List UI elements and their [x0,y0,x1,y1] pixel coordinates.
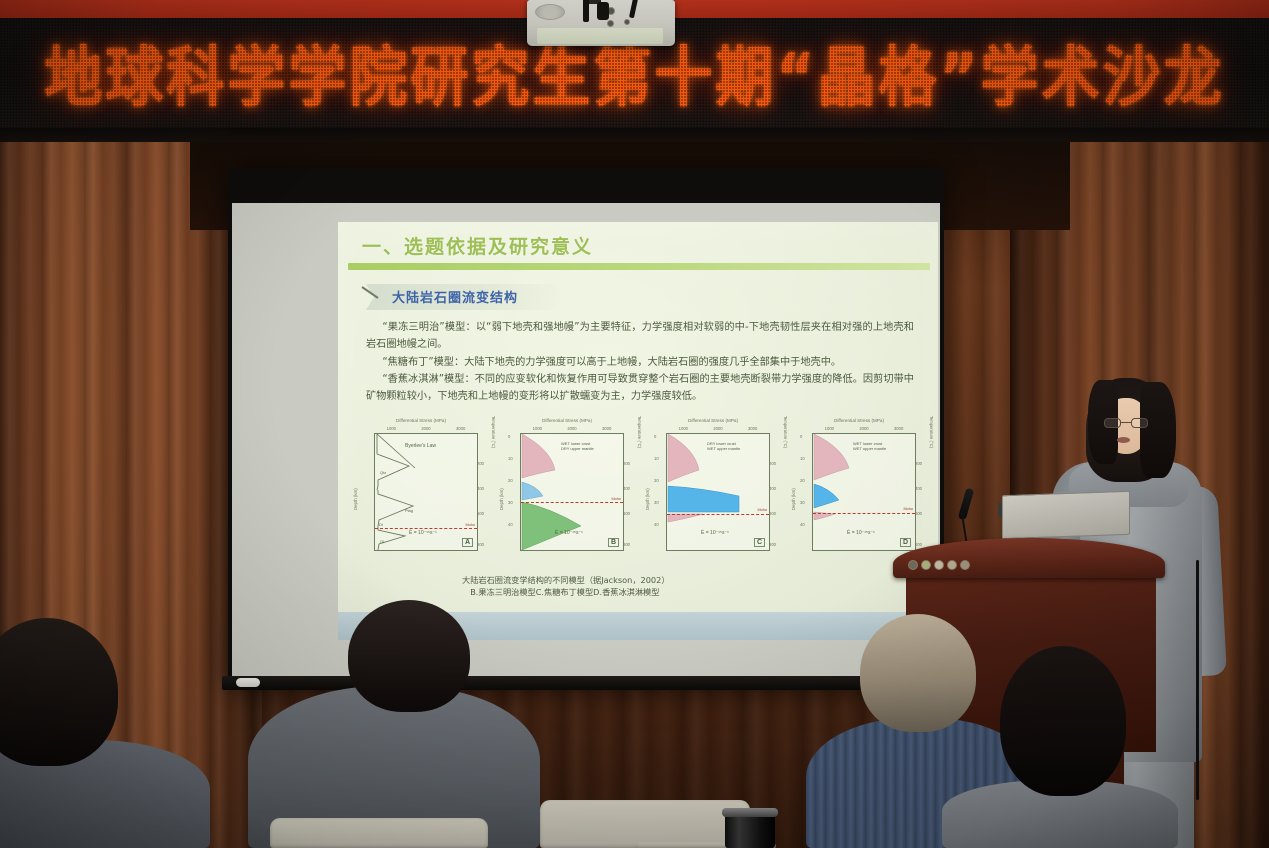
presentation-slide: 一、选题依据及研究意义 大陆岩石圈流变结构 “果冻三明治”模型：以“弱下地壳和强… [338,222,938,640]
chart-b-y2tick-3: 600 [623,511,630,516]
slide-paragraph-3: “香蕉冰淇淋”模型：不同的应变软化和恢复作用可导致贯穿整个岩石圈的主要地壳断裂带… [366,372,914,406]
glasses-lens-left [1104,418,1121,428]
chart-b-plot: Moho WET lower crust DRY upper mantle Ė … [520,433,624,551]
chart-d-y2tick-1: 200 [915,461,922,466]
chart-b-ylabel: Depth (km) [499,488,504,510]
chart-a-byerlee-label: Byerlee's Law [405,443,436,449]
presenter-glasses-icon [1104,418,1148,428]
chart-d-ytick-1: 0 [800,434,802,439]
projection-screen: 一、选题依据及研究意义 大陆岩石圈流变结构 “果冻三明治”模型：以“弱下地壳和强… [232,203,940,676]
chart-d-xticks: 1000 2000 3000 [812,426,916,433]
slide-title-rule [348,263,930,270]
podium-button-1[interactable] [908,560,918,570]
chart-d-y2tick-4: 800 [915,542,922,547]
chart-b-ytick-5: 40 [508,522,513,527]
chart-a-panel-label: A [462,538,473,547]
chart-panel-d: Differential Stress (MPa) 1000 2000 3000… [790,418,928,568]
chart-c-moho-line [667,514,769,515]
projector-icon [527,0,675,46]
chart-d-moho-label: Moho [904,507,914,511]
podium-control-buttons[interactable] [908,560,970,570]
chart-c-xlabel: Differential Stress (MPa) [688,418,738,423]
projector-cable-3 [629,0,638,18]
audience-member-center-head [348,600,470,712]
glasses-bridge [1121,422,1131,423]
chart-c-xtick-3: 3000 [748,426,757,433]
chart-panel-c: Differential Stress (MPa) 1000 2000 3000… [644,418,782,568]
chart-a-strain-rate: Ė = 10⁻¹⁵s⁻¹ [409,530,437,536]
chart-d-panel-label: D [900,538,911,547]
chart-c-y2tick-1: 200 [769,461,776,466]
chart-c-ytick-1: 0 [654,434,656,439]
chart-panel-b: Differential Stress (MPa) 1000 2000 3000… [498,418,636,568]
projector-front-plate [537,28,663,44]
chart-a-y2label: Temperature (°C) [491,416,496,448]
chart-panel-a: Differential Stress (MPa) 1000 2000 3000… [352,418,490,568]
chart-c-strain-rate: Ė = 10⁻¹⁵s⁻¹ [701,530,729,536]
chart-b-y2tick-2: 400 [623,486,630,491]
chart-b-legend: WET lower crust DRY upper mantle [561,441,594,452]
chart-c-y2tick-3: 600 [769,511,776,516]
chart-d-plot: Moho WET lower crust WET upper mantle Ė … [812,433,916,551]
presenter-side-cable [1196,560,1199,800]
chart-d-ytick-3: 20 [800,478,805,483]
chart-b-xlabel: Differential Stress (MPa) [542,418,592,423]
chart-c-panel-label: C [754,538,765,547]
chart-a-moho-label: Moho [466,523,476,527]
chart-b-ytick-3: 20 [508,478,513,483]
chart-d-ylabel: Depth (km) [791,488,796,510]
lecture-hall-photo: 地球科学学院研究生第十期“晶格”学术沙龙 一、选题依据及研究意义 大陆岩石圈流变… [0,0,1269,848]
chart-c-ytick-4: 30 [654,500,659,505]
chart-b-ytick-4: 30 [508,500,513,505]
chart-c-ytick-3: 20 [654,478,659,483]
chart-c-moho-label: Moho [758,508,768,512]
chart-b-xticks: 1000 2000 3000 [520,426,624,433]
chart-c-y2label: Temperature (°C) [783,416,788,448]
chart-a-ol-label: Ol [380,539,384,544]
chart-b-ytick-1: 0 [508,434,510,439]
chart-c-legend: DRY lower crust WET upper mantle [707,441,740,452]
chart-c-xtick-2: 2000 [713,426,722,433]
chart-a-y2tick-4: 800 [477,542,484,547]
chart-c-xticks: 1000 2000 3000 [666,426,770,433]
chart-d-y2label: Temperature (°C) [929,416,934,448]
chart-b-y2label: Temperature (°C) [637,416,642,448]
chart-d-legend-2: WET upper mantle [853,446,886,451]
chart-b-xtick-3: 3000 [602,426,611,433]
slide-body-text: “果冻三明治”模型：以“弱下地壳和强地幔”为主要特征，力学强度相对软弱的中-下地… [366,320,914,407]
chart-c-ytick-5: 40 [654,522,659,527]
chart-c-legend-2: WET upper mantle [707,446,740,451]
slide-paragraph-2: “焦糖布丁”模型：大陆下地壳的力学强度可以高于上地幔，大陆岩石圈的强度几乎全部集… [366,355,914,372]
chart-a-xtick-2: 2000 [421,426,430,433]
chart-a-qtz-label: Qtz [380,470,386,475]
chart-d-y2tick-3: 600 [915,511,922,516]
chevron-mark-icon [360,285,382,301]
chart-d-legend: WET lower crust WET upper mantle [853,441,886,452]
chart-d-strain-rate: Ė = 10⁻¹⁵s⁻¹ [847,530,875,536]
chart-c-xtick-1: 1000 [679,426,688,433]
screen-bottom-bar [222,676,948,690]
chart-b-y2tick-4: 800 [623,542,630,547]
projector-cable-2 [597,2,609,20]
chart-c-ylabel: Depth (km) [645,488,650,510]
screen-pull-handle[interactable] [236,678,260,687]
chart-d-ytick-2: 10 [800,456,805,461]
chart-d-ytick-4: 30 [800,500,805,505]
slide-title: 一、选题依据及研究意义 [362,232,593,259]
presenter-mouth [1117,437,1130,443]
presenter-hair-back [1140,382,1176,478]
chart-a-xticks: 1000 2000 3000 [374,426,478,433]
led-banner-text: 地球科学学院研究生第十期“晶格”学术沙龙 [44,45,1224,110]
chart-c-plot: Moho DRY lower crust WET upper mantle Ė … [666,433,770,551]
podium-button-5[interactable] [960,560,970,570]
podium-button-2[interactable] [921,560,931,570]
chart-a-xtick-1: 1000 [387,426,396,433]
chart-b-moho-line [521,502,623,503]
chart-d-ytick-5: 40 [800,522,805,527]
slide-figure-caption: 大陆岩石圈流变学结构的不同模型（据Jackson，2002） B.果冻三明治模型… [462,574,842,599]
chart-d-moho-line [813,513,915,514]
chart-d-xtick-1: 1000 [825,426,834,433]
chart-a-y2tick-1: 200 [477,461,484,466]
chart-d-xtick-2: 2000 [859,426,868,433]
chart-a-xtick-3: 3000 [456,426,465,433]
podium-button-4[interactable] [947,560,957,570]
chart-c-ytick-2: 10 [654,456,659,461]
audience-chair-2 [540,800,750,848]
presenter-laptop[interactable] [1002,491,1130,539]
chart-b-ytick-2: 10 [508,456,513,461]
projector-vent [535,4,565,20]
projector-cable-1 [583,0,589,22]
chart-a-di-label: Di [379,522,383,527]
chart-c-y2tick-4: 800 [769,542,776,547]
chart-b-y2tick-1: 200 [623,461,630,466]
chart-b-panel-label: B [608,538,619,547]
chart-d-xlabel: Differential Stress (MPa) [834,418,884,423]
chart-b-xtick-1: 1000 [533,426,542,433]
chart-b-xtick-2: 2000 [567,426,576,433]
chart-b-strain-rate: Ė = 10⁻¹⁵s⁻¹ [555,530,583,536]
chart-a-ylabel: Depth (km) [353,488,358,510]
caption-line-2: B.果冻三明治模型C.焦糖布丁模型D.香蕉冰淇淋模型 [462,586,842,598]
chart-a-moho-line [375,528,477,529]
audience-chair-1 [270,818,488,848]
podium-button-3[interactable] [934,560,944,570]
audience-member-ponytail-head [1000,646,1126,796]
chart-d-y2tick-2: 400 [915,486,922,491]
slide-subtitle: 大陆岩石圈流变结构 [392,287,518,306]
glasses-lens-right [1131,418,1148,428]
chart-a-plag-label: Plag [405,508,413,513]
chart-a-y2tick-2: 400 [477,486,484,491]
chart-a-y2tick-3: 600 [477,511,484,516]
projector-port-2 [607,20,614,27]
audience-member-gray-head [860,614,976,732]
chart-c-y2tick-2: 400 [769,486,776,491]
chart-a-plot: Moho Byerlee's Law Qtz Plag Di Ol Ė = 10… [374,433,478,551]
banner-shadow [0,128,1269,142]
caption-line-1: 大陆岩石圈流变学结构的不同模型（据Jackson，2002） [462,574,842,586]
chart-a-xlabel: Differential Stress (MPa) [396,418,446,423]
chart-b-legend-2: DRY upper mantle [561,446,594,451]
chart-b-moho-label: Moho [612,497,622,501]
slide-figure-charts: Differential Stress (MPa) 1000 2000 3000… [352,418,928,568]
slide-paragraph-1: “果冻三明治”模型：以“弱下地壳和强地幔”为主要特征，力学强度相对软弱的中-下地… [366,320,914,354]
thermos-lid [722,808,778,817]
black-thermos-cup [725,812,775,848]
projector-port-3 [624,19,630,25]
chart-d-xtick-3: 3000 [894,426,903,433]
